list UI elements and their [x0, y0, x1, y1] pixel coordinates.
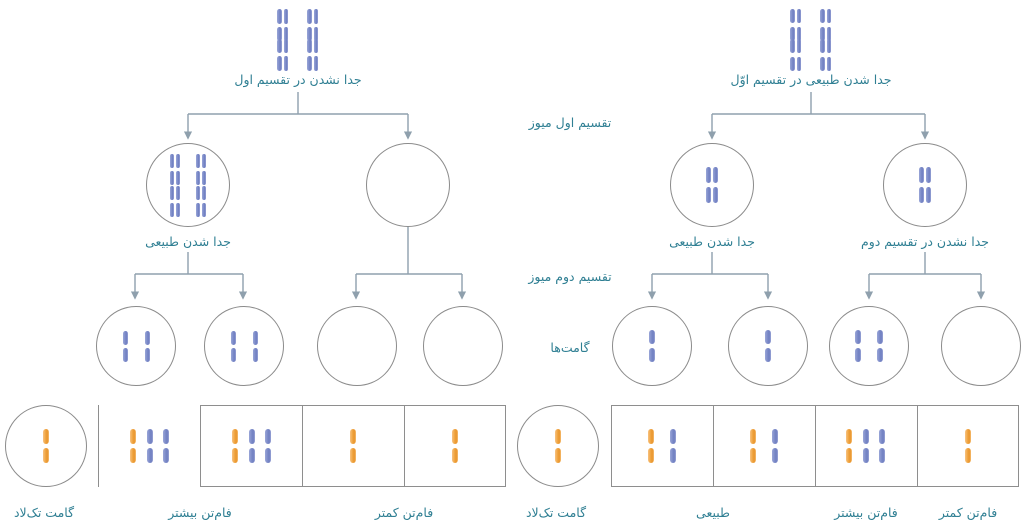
chromatid-rod — [130, 448, 136, 464]
chromatid-rod — [202, 186, 206, 200]
chromatid-rod — [176, 186, 180, 200]
chromatid-rod — [307, 39, 311, 54]
chromosome-single — [863, 429, 869, 464]
chromatid-rod — [790, 57, 794, 72]
chromatid-rod — [713, 167, 718, 184]
right-gamete-3 — [829, 306, 909, 386]
right-zygote-divider-2 — [815, 405, 816, 487]
left-daughter-cell-a — [146, 143, 230, 227]
chromatid-rod — [123, 331, 128, 345]
chromosome-single — [772, 429, 778, 464]
chromatid-rod — [877, 348, 882, 363]
chromosome-single — [649, 330, 654, 363]
chromatid-rod — [307, 56, 311, 71]
right-gamete-4 — [941, 306, 1021, 386]
chromatid-rod — [277, 56, 281, 71]
chromatid-rod — [176, 154, 180, 168]
chromosome-single — [555, 429, 561, 464]
chromosome-single — [130, 429, 136, 464]
chromatid-rod — [253, 331, 258, 345]
chromosome-duplicated — [790, 9, 801, 42]
chromatid-rod — [820, 9, 824, 24]
chromatid-rod — [307, 9, 311, 24]
chromosome-duplicated — [307, 9, 318, 42]
chromatid-rod — [965, 448, 971, 464]
chromatid-rod — [145, 331, 150, 345]
right-zygote-divider-1 — [713, 405, 714, 487]
title-right: جدا شدن طبیعی در تقسیم اوّل — [730, 72, 891, 87]
right-nondisjunction-2-label: جدا نشدن در تقسیم دوم — [861, 234, 989, 249]
chromosome-single — [123, 331, 128, 362]
chromatid-rod — [176, 203, 180, 217]
chromatid-rod — [750, 448, 756, 464]
chromatid-rod — [649, 348, 654, 363]
chromatid-rod — [648, 429, 654, 445]
left-zygote-divider-3 — [404, 405, 405, 487]
chromosome-duplicated — [277, 39, 288, 72]
chromatid-rod — [284, 39, 288, 54]
chromatid-rod — [196, 203, 200, 217]
chromatid-rod — [772, 448, 778, 464]
chromosome-duplicated — [307, 39, 318, 72]
chromosome-single — [145, 331, 150, 362]
chromatid-rod — [706, 167, 711, 184]
left-gamete-1 — [96, 306, 176, 386]
chromatid-rod — [919, 167, 924, 184]
chromatid-rod — [232, 448, 238, 464]
chromatid-rod — [863, 429, 869, 445]
chromosome-duplicated — [277, 9, 288, 42]
chromatid-rod — [232, 429, 238, 445]
title-left: جدا نشدن در تقسیم اول — [234, 72, 361, 87]
chromatid-rod — [277, 9, 281, 24]
stage-label-meiosis-1: تقسیم اول میوز — [529, 115, 612, 130]
chromatid-rod — [855, 330, 860, 345]
chromatid-rod — [555, 448, 561, 464]
left-gamete-2 — [204, 306, 284, 386]
chromatid-rod — [846, 448, 852, 464]
right-more-chromosome-label: فام‌تن بیشتر — [834, 505, 898, 520]
chromatid-rod — [163, 448, 169, 464]
chromosome-single — [265, 429, 271, 464]
chromatid-rod — [350, 429, 356, 445]
chromatid-rod — [196, 154, 200, 168]
chromatid-rod — [772, 429, 778, 445]
chromatid-rod — [649, 330, 654, 345]
chromatid-rod — [196, 186, 200, 200]
chromatid-rod — [284, 56, 288, 71]
chromatid-rod — [163, 429, 169, 445]
chromatid-rod — [926, 187, 931, 204]
chromatid-rod — [176, 171, 180, 185]
chromosome-single — [750, 429, 756, 464]
chromosome-duplicated — [170, 154, 181, 185]
chromosome-single — [253, 331, 258, 362]
chromatid-rod — [555, 429, 561, 445]
chromatid-rod — [123, 348, 128, 362]
chromatid-rod — [170, 186, 174, 200]
chromosome-single — [877, 330, 882, 363]
chromosome-duplicated — [196, 154, 207, 185]
chromatid-rod — [846, 429, 852, 445]
left-gamete-4 — [423, 306, 503, 386]
chromatid-rod — [249, 429, 255, 445]
right-zygote-divider-3 — [917, 405, 918, 487]
chromatid-rod — [879, 429, 885, 445]
left-normal-separation-label: جدا شدن طبیعی — [145, 234, 231, 249]
chromosome-single — [163, 429, 169, 464]
chromatid-rod — [231, 331, 236, 345]
right-normal-separation-label: جدا شدن طبیعی — [669, 234, 755, 249]
chromatid-rod — [706, 187, 711, 204]
chromatid-rod — [314, 9, 318, 24]
right-fewer-chromosome-label: فام‌تن کمتر — [939, 505, 997, 520]
chromosome-single — [231, 331, 236, 362]
left-more-chromosome-label: فام‌تن بیشتر — [168, 505, 232, 520]
chromosome-duplicated — [196, 186, 207, 217]
left-zygote-divider-1 — [200, 405, 201, 487]
chromatid-rod — [314, 39, 318, 54]
chromatid-rod — [350, 448, 356, 464]
chromatid-rod — [202, 171, 206, 185]
chromatid-rod — [265, 429, 271, 445]
chromatid-rod — [231, 348, 236, 362]
left-gamete-3 — [317, 306, 397, 386]
chromatid-rod — [797, 39, 801, 54]
chromosome-single — [846, 429, 852, 464]
chromosome-duplicated — [706, 167, 718, 204]
chromatid-rod — [277, 39, 281, 54]
chromatid-rod — [965, 429, 971, 445]
chromatid-rod — [750, 429, 756, 445]
chromatid-rod — [202, 203, 206, 217]
chromosome-duplicated — [170, 186, 181, 217]
chromatid-rod — [797, 57, 801, 72]
meiosis-nondisjunction-diagram: جدا نشدن در تقسیم اول جدا شدن طبیعی گامت… — [0, 0, 1027, 532]
chromatid-rod — [170, 171, 174, 185]
stage-label-meiosis-2: تقسیم دوم میوز — [528, 269, 611, 284]
chromosome-single — [879, 429, 885, 464]
chromatid-rod — [452, 429, 458, 445]
chromatid-rod — [253, 348, 258, 362]
chromosome-single — [452, 429, 458, 464]
chromatid-rod — [147, 429, 153, 445]
chromosome-duplicated — [790, 39, 801, 72]
chromatid-rod — [820, 57, 824, 72]
chromatid-rod — [670, 448, 676, 464]
chromatid-rod — [797, 9, 801, 24]
chromatid-rod — [827, 57, 831, 72]
chromatid-rod — [43, 429, 49, 445]
chromosome-single — [965, 429, 971, 464]
chromatid-rod — [670, 429, 676, 445]
chromatid-rod — [284, 9, 288, 24]
left-zygote-divider-2 — [302, 405, 303, 487]
chromosome-single — [350, 429, 356, 464]
chromosome-duplicated — [820, 9, 831, 42]
chromatid-rod — [43, 448, 49, 464]
chromatid-rod — [820, 39, 824, 54]
left-fewer-chromosome-label: فام‌تن کمتر — [375, 505, 433, 520]
chromatid-rod — [196, 171, 200, 185]
chromatid-rod — [452, 448, 458, 464]
stage-label-gametes: گامت‌ها — [550, 340, 589, 355]
chromatid-rod — [765, 330, 770, 345]
chromatid-rod — [790, 9, 794, 24]
chromatid-rod — [648, 448, 654, 464]
chromatid-rod — [827, 9, 831, 24]
right-haploid-gamete-label: گامت تک‌لاد — [526, 505, 586, 520]
chromatid-rod — [926, 167, 931, 184]
chromatid-rod — [919, 187, 924, 204]
chromosome-single — [249, 429, 255, 464]
right-normal-label: طبیعی — [696, 505, 730, 520]
chromatid-rod — [863, 448, 869, 464]
chromosome-single — [855, 330, 860, 363]
chromatid-rod — [130, 429, 136, 445]
chromatid-rod — [170, 154, 174, 168]
chromatid-rod — [827, 39, 831, 54]
chromatid-rod — [713, 187, 718, 204]
chromosome-single — [232, 429, 238, 464]
chromatid-rod — [765, 348, 770, 363]
chromatid-rod — [877, 330, 882, 345]
chromosome-single — [43, 429, 49, 464]
chromosome-single — [648, 429, 654, 464]
chromatid-rod — [879, 448, 885, 464]
chromosome-duplicated — [919, 167, 931, 204]
chromosome-single — [670, 429, 676, 464]
chromatid-rod — [790, 39, 794, 54]
chromosome-single — [147, 429, 153, 464]
left-haploid-gamete-label: گامت تک‌لاد — [14, 505, 74, 520]
chromatid-rod — [265, 448, 271, 464]
chromatid-rod — [249, 448, 255, 464]
chromatid-rod — [202, 154, 206, 168]
chromosome-duplicated — [820, 39, 831, 72]
chromatid-rod — [147, 448, 153, 464]
chromatid-rod — [170, 203, 174, 217]
chromatid-rod — [145, 348, 150, 362]
chromatid-rod — [855, 348, 860, 363]
left-daughter-cell-b — [366, 143, 450, 227]
chromatid-rod — [314, 56, 318, 71]
chromosome-single — [765, 330, 770, 363]
